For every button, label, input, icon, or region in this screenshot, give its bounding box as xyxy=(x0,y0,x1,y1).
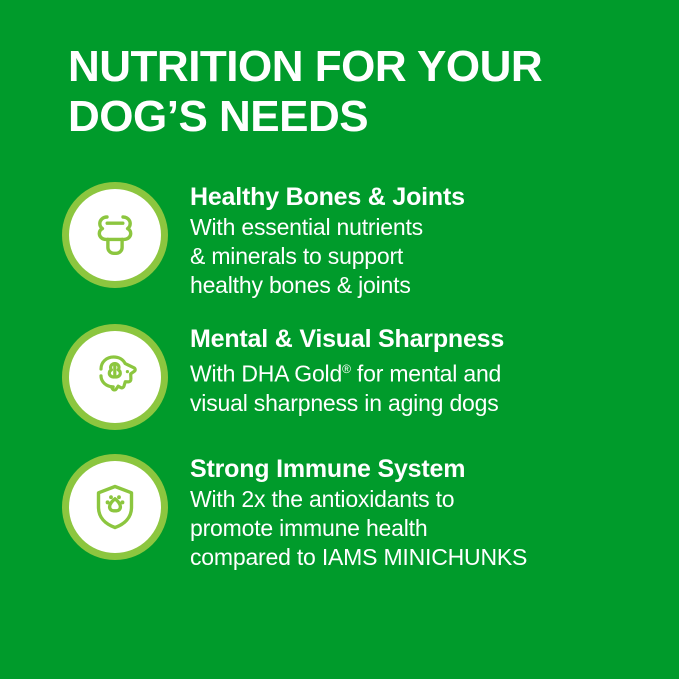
benefit-item-immune-system: Strong Immune System With 2x the antioxi… xyxy=(62,452,662,572)
benefit-title: Healthy Bones & Joints xyxy=(190,182,662,212)
benefit-item-bones-joints: Healthy Bones & Joints With essential nu… xyxy=(62,180,662,300)
benefit-text: Mental & Visual Sharpness With DHA Gold®… xyxy=(168,322,662,418)
benefit-description-line: healthy bones & joints xyxy=(190,271,662,300)
benefit-description-line: & minerals to support xyxy=(190,242,662,271)
shield-paw-icon xyxy=(85,476,145,538)
benefit-icon-wrap xyxy=(62,454,168,560)
bone-joint-icon xyxy=(84,204,146,266)
benefit-description: With 2x the antioxidants to promote immu… xyxy=(190,485,662,572)
benefit-item-mental-visual: Mental & Visual Sharpness With DHA Gold®… xyxy=(62,322,662,430)
benefit-icon-wrap xyxy=(62,324,168,430)
benefits-list: Healthy Bones & Joints With essential nu… xyxy=(62,180,662,594)
benefit-title: Strong Immune System xyxy=(190,454,662,484)
dog-head-brain-icon xyxy=(83,345,147,409)
icon-ring xyxy=(62,182,168,288)
benefit-description-line: With 2x the antioxidants to xyxy=(190,485,662,514)
benefits-panel: Nutrition for your dog’s needs xyxy=(0,0,679,679)
benefit-description: With essential nutrients & minerals to s… xyxy=(190,213,662,300)
benefit-description: With DHA Gold® for mental and visual sha… xyxy=(190,355,662,418)
benefit-icon-wrap xyxy=(62,182,168,288)
benefit-text: Healthy Bones & Joints With essential nu… xyxy=(168,180,662,300)
icon-inner xyxy=(69,461,161,553)
benefit-text: Strong Immune System With 2x the antioxi… xyxy=(168,452,662,572)
icon-inner xyxy=(69,189,161,281)
benefit-description-line: promote immune health xyxy=(190,514,662,543)
benefit-description-line: visual sharpness in aging dogs xyxy=(190,389,662,418)
icon-inner xyxy=(69,331,161,423)
benefit-description-line: With DHA Gold® for mental and xyxy=(190,355,662,389)
icon-ring xyxy=(62,324,168,430)
benefit-title: Mental & Visual Sharpness xyxy=(190,324,662,354)
benefit-description-line: compared to IAMS MINICHUNKS xyxy=(190,543,662,572)
page-title: Nutrition for your dog’s needs xyxy=(68,42,628,142)
icon-ring xyxy=(62,454,168,560)
benefit-description-line: With essential nutrients xyxy=(190,213,662,242)
